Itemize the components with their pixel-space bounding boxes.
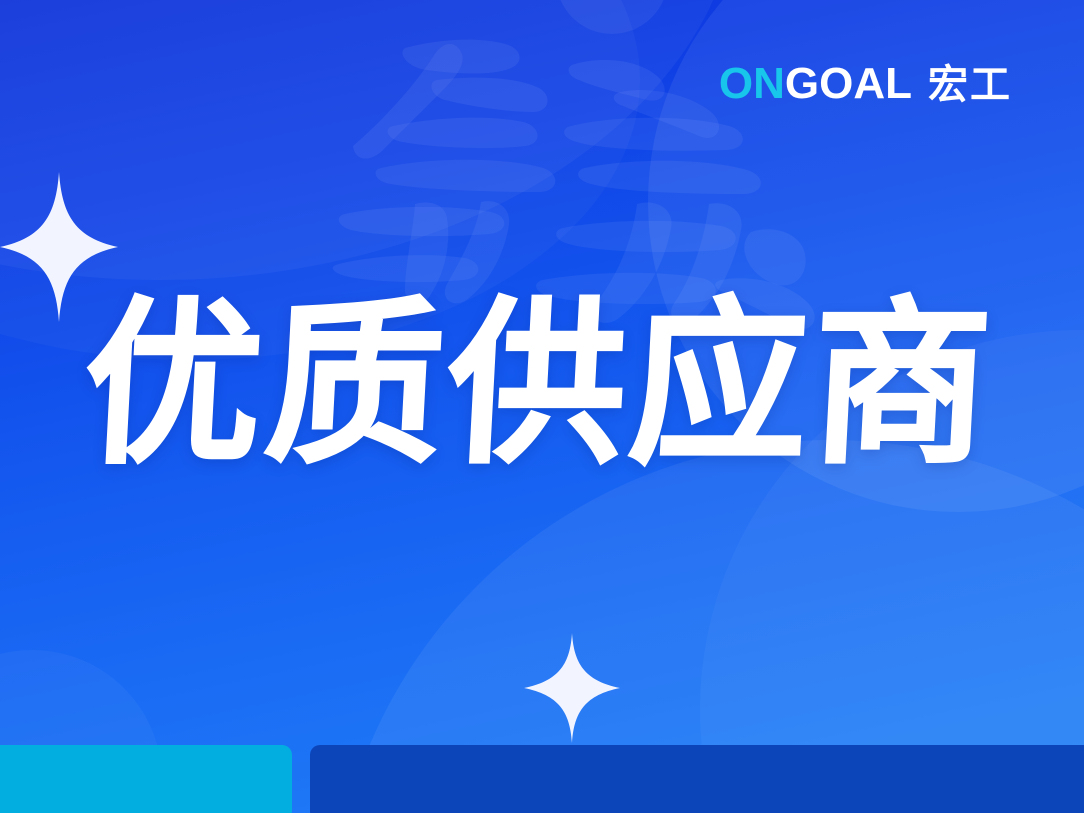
brand-logo: ONGOAL 宏工 [719, 62, 1012, 106]
background-circle-top-middle [556, 0, 668, 34]
logo-text-group: ONGOAL [719, 62, 912, 106]
logo-text-chinese: 宏工 [928, 65, 1012, 105]
sparkle-star-icon-lower [524, 633, 620, 743]
bottom-bar-navy [310, 745, 1084, 813]
logo-text-goal: GOAL [785, 59, 912, 108]
headline-title: 优质供应商 [79, 296, 1028, 474]
bottom-bar-cyan [0, 745, 292, 813]
logo-text-on: ON [719, 59, 785, 108]
poster-canvas: ONGOAL 宏工 优质供应商 [0, 0, 1084, 813]
